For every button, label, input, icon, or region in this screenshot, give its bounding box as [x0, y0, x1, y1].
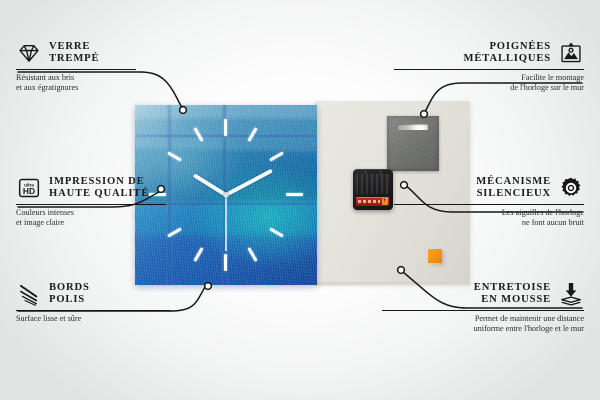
callout-title: VERRE TREMPÉ — [49, 41, 99, 66]
svg-text:HD: HD — [23, 186, 35, 196]
leader-endpoint-verre-trempe — [180, 107, 187, 114]
ultra-hd-icon: ultra HD — [16, 175, 42, 201]
callout-impression-haute-qualite: ultra HD IMPRESSION DE HAUTE QUALITÉ Cou… — [16, 175, 206, 228]
callout-description: Surface lisse et sûre — [16, 314, 206, 324]
arrow-into-foam-icon — [558, 281, 584, 307]
callout-title: MÉCANISME SILENCIEUX — [476, 176, 551, 201]
callout-title: IMPRESSION DE HAUTE QUALITÉ — [49, 176, 149, 201]
callout-description: Couleurs intenses et image claire — [16, 208, 206, 228]
polished-edges-icon — [16, 281, 42, 307]
leader-endpoint-entretoise — [398, 267, 405, 274]
callout-header: MÉCANISME SILENCIEUX — [394, 175, 584, 201]
gear-icon — [558, 175, 584, 201]
picture-frame-hanger-icon — [558, 40, 584, 66]
callout-description: Résistant aux bris et aux égratignures — [16, 73, 206, 93]
callout-title: ENTRETOISE EN MOUSSE — [474, 282, 551, 307]
callout-rule — [16, 310, 171, 311]
callout-header: ENTRETOISE EN MOUSSE — [382, 281, 584, 307]
callout-description: Les aiguilles de l'horloge ne font aucun… — [394, 208, 584, 228]
callout-header: BORDS POLIS — [16, 281, 206, 307]
callout-rule — [382, 310, 584, 311]
callout-title: BORDS POLIS — [49, 282, 90, 307]
callout-poignees-metalliques: POIGNÉES MÉTALLIQUES Facilite le montage… — [394, 40, 584, 93]
callout-header: VERRE TREMPÉ — [16, 40, 206, 66]
callout-rule — [16, 69, 136, 70]
callout-header: ultra HD IMPRESSION DE HAUTE QUALITÉ — [16, 175, 206, 201]
callout-verre-trempe: VERRE TREMPÉ Résistant aux bris et aux é… — [16, 40, 206, 93]
callout-bords-polis: BORDS POLIS Surface lisse et sûre — [16, 281, 206, 324]
callout-description: Facilite le montage de l'horloge sur le … — [394, 73, 584, 93]
leader-endpoint-poignees — [421, 111, 428, 118]
callout-entretoise-en-mousse: ENTRETOISE EN MOUSSE Permet de maintenir… — [382, 281, 584, 334]
diamond-icon — [16, 40, 42, 66]
callout-description: Permet de maintenir une distance uniform… — [382, 314, 584, 334]
callout-header: POIGNÉES MÉTALLIQUES — [394, 40, 584, 66]
infographic-canvas: VERRE TREMPÉ Résistant aux bris et aux é… — [0, 0, 600, 400]
callout-mecanisme-silencieux: MÉCANISME SILENCIEUX Les aiguilles de l'… — [394, 175, 584, 228]
callout-title: POIGNÉES MÉTALLIQUES — [464, 41, 551, 66]
callout-rule — [16, 204, 166, 205]
callout-rule — [394, 204, 584, 205]
callout-rule — [394, 69, 584, 70]
